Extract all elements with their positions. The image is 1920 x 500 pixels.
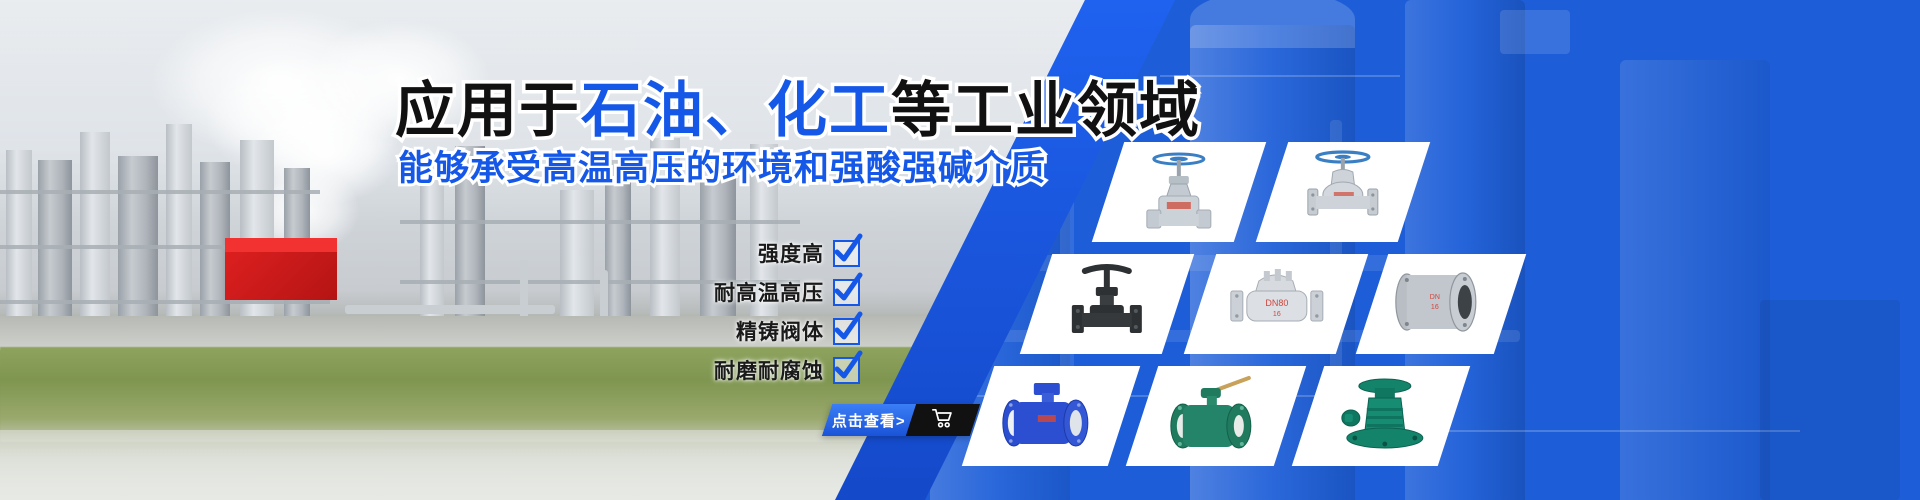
feature-label: 耐高温高压	[714, 277, 824, 307]
product-tile[interactable]	[1126, 366, 1306, 466]
cta-button[interactable]: 点击查看>	[822, 404, 980, 436]
flanged-valve-green-image	[1331, 374, 1431, 459]
check-icon	[833, 279, 860, 306]
product-grid: DN80 16 DN 16	[1020, 142, 1580, 472]
feature-item: 耐磨耐腐蚀	[640, 355, 860, 385]
gate-valve-handwheel-image	[1133, 148, 1225, 237]
feature-list: 强度高 耐高温高压 精铸阀体 耐磨耐腐蚀	[640, 238, 860, 394]
headline-part-accent: 石油、化工	[581, 77, 891, 144]
headline-part-3: 等工业领域	[891, 77, 1201, 144]
product-tile[interactable]	[1020, 254, 1194, 354]
check-icon	[833, 357, 860, 384]
svg-text:16: 16	[1431, 304, 1439, 311]
cta-label-section[interactable]: 点击查看>	[822, 404, 916, 436]
svg-text:DN80: DN80	[1265, 298, 1288, 308]
ball-valve-green-lever-image	[1163, 374, 1269, 459]
headline: 应用于石油、化工等工业领域	[395, 62, 1201, 149]
svg-text:16: 16	[1273, 311, 1281, 318]
gate-valve-black-image	[1060, 261, 1154, 348]
cta-label: 点击查看>	[832, 410, 906, 431]
feature-item: 强度高	[640, 238, 860, 268]
feature-item: 耐高温高压	[640, 277, 860, 307]
feature-label: 精铸阀体	[736, 316, 824, 346]
feature-label: 耐磨耐腐蚀	[714, 355, 824, 385]
plant-wall	[0, 316, 1050, 350]
swing-check-valve-image: DN80 16	[1221, 265, 1331, 344]
flanged-spool-valve-image: DN 16	[1391, 269, 1491, 340]
svg-text:DN: DN	[1430, 294, 1440, 301]
feature-label: 强度高	[758, 238, 824, 268]
ball-valve-blue-lined-image	[998, 377, 1104, 456]
product-tile[interactable]: DN80 16	[1184, 254, 1368, 354]
product-tile[interactable]	[1256, 142, 1430, 242]
product-tile[interactable]	[1292, 366, 1470, 466]
promo-banner: 应用于石油、化工等工业领域 能够承受高温高压的环境和强酸强碱介质 强度高 耐高温…	[0, 0, 1920, 500]
product-tile[interactable]	[1092, 142, 1266, 242]
check-icon	[833, 318, 860, 345]
product-tile[interactable]	[962, 366, 1140, 466]
headline-part-1: 应用于	[395, 77, 581, 144]
globe-valve-flanged-image	[1296, 147, 1390, 238]
feature-item: 精铸阀体	[640, 316, 860, 346]
product-tile[interactable]: DN 16	[1356, 254, 1526, 354]
shopping-cart-icon	[932, 408, 954, 433]
cta-cart-section[interactable]	[906, 404, 980, 436]
check-icon	[833, 240, 860, 267]
subtitle: 能够承受高温高压的环境和强酸强碱介质	[398, 140, 1046, 191]
